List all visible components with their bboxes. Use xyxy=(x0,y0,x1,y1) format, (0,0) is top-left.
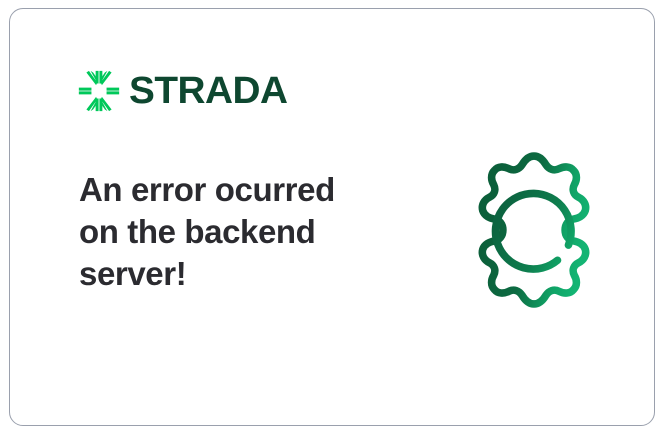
strada-asterisk-icon xyxy=(78,70,120,112)
brand-lockup: STRADA xyxy=(78,70,284,112)
error-card: STRADA An error ocurred on the backend s… xyxy=(9,8,655,426)
error-headline: An error ocurred on the backend server! xyxy=(79,169,379,296)
gear-spinner-icon xyxy=(450,146,618,314)
brand-wordmark: STRADA xyxy=(129,72,287,110)
